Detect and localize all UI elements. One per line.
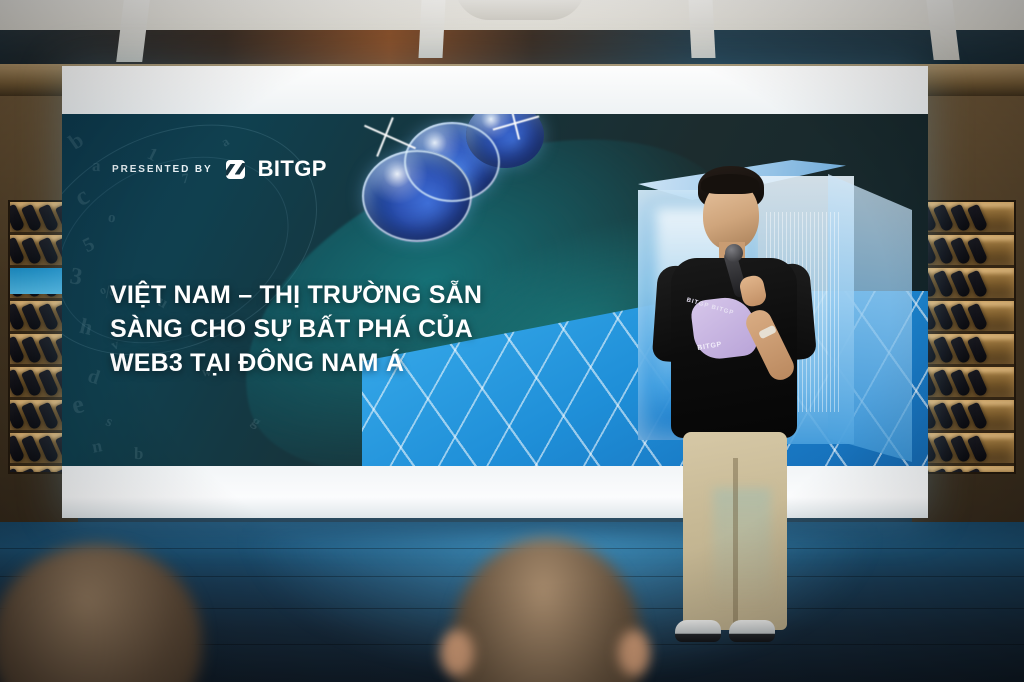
wine-shelf <box>922 433 1014 466</box>
wine-shelf <box>10 367 68 400</box>
blue-panel <box>10 268 68 294</box>
sparkle-icon <box>364 125 416 150</box>
wine-bottle <box>967 402 989 431</box>
bitgp-logo-icon <box>226 160 245 179</box>
wine-shelf <box>922 235 1014 268</box>
wine-shelf <box>922 268 1014 301</box>
wine-shelf <box>922 466 1014 474</box>
wine-bottle <box>967 303 989 332</box>
wine-shelf <box>10 433 68 466</box>
ceiling-beam <box>418 0 445 58</box>
wine-shelf <box>10 301 68 334</box>
watermark-glyph: b <box>134 444 144 464</box>
speaker-shoe-right <box>729 620 775 642</box>
ceiling-gap <box>0 30 1024 68</box>
wine-bottle <box>967 435 989 464</box>
speaker: BITGP BITGP BITGP <box>645 158 825 648</box>
crystal-side-face <box>828 162 912 462</box>
title-line-3: WEB3 TẠI ĐÔNG NAM Á <box>110 346 540 380</box>
watermark-glyph: d <box>85 365 103 390</box>
wine-shelf <box>10 202 68 235</box>
ceiling-beam <box>688 0 715 58</box>
title-line-2: SÀNG CHO SỰ BẤT PHÁ CỦA <box>110 312 540 346</box>
speaker-shoe-left <box>675 620 721 642</box>
title-line-1: VIỆT NAM – THỊ TRƯỜNG SẴN <box>110 278 540 312</box>
brand-name: BITGP <box>258 156 327 182</box>
wine-shelf <box>10 466 68 474</box>
wine-bottle <box>967 369 989 398</box>
wine-rack-shelves <box>8 200 70 474</box>
wine-bottle <box>967 336 989 365</box>
wine-shelf <box>922 202 1014 235</box>
wine-shelf <box>10 268 68 301</box>
speaker-fringe <box>701 174 759 194</box>
slide-title: VIỆT NAM – THỊ TRƯỜNG SẴN SÀNG CHO SỰ BẤ… <box>110 278 540 380</box>
wine-bottle <box>967 204 989 233</box>
wine-shelf <box>922 301 1014 334</box>
event-photo-scene: baco53%hvdesn17uwgba <box>0 0 1024 682</box>
watermark-glyph: a <box>92 156 101 176</box>
audience-ear <box>440 630 474 676</box>
wine-rack-shelves <box>920 200 1016 474</box>
wine-shelf <box>922 367 1014 400</box>
wine-rack-right <box>912 96 1024 594</box>
wine-shelf <box>922 334 1014 367</box>
watermark-glyph: e <box>68 389 87 421</box>
wine-shelf <box>10 334 68 367</box>
presented-by-label: PRESENTED BY <box>112 164 213 175</box>
wine-shelf <box>10 400 68 433</box>
led-top-band <box>62 66 928 114</box>
watermark-glyph: b <box>64 127 89 155</box>
pants-seam <box>733 458 738 630</box>
pants-highlight <box>713 488 771 608</box>
audience-ear <box>618 630 650 676</box>
presented-by-row: PRESENTED BY BITGP <box>112 156 327 182</box>
wine-bottle <box>967 270 989 299</box>
wine-shelf <box>922 400 1014 433</box>
sphere-rim-highlight <box>404 122 500 202</box>
wine-bottle <box>967 237 989 266</box>
watermark-glyph: n <box>90 435 104 458</box>
wine-shelf <box>10 235 68 268</box>
microphone-head-icon <box>725 244 743 262</box>
watermark-glyph: s <box>103 414 115 432</box>
